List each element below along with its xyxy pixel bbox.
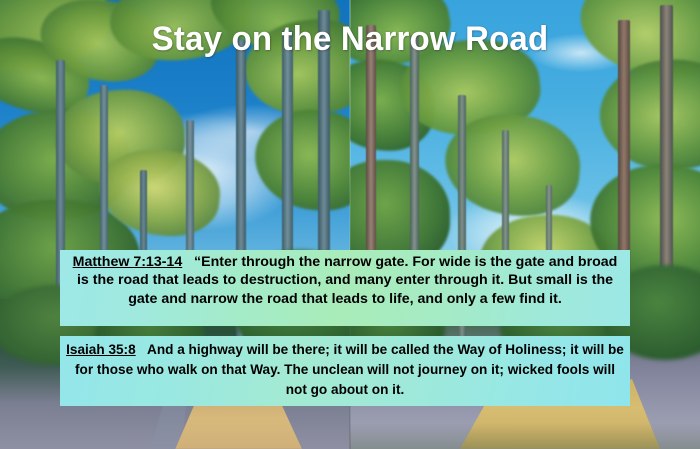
page-title: Stay on the Narrow Road xyxy=(11,20,690,59)
scripture-reference-matthew: Matthew 7:13-14 xyxy=(73,254,183,270)
presentation-slide: Stay on the Narrow Road Matthew 7:13-14 … xyxy=(0,0,700,449)
scripture-text-isaiah: And a highway will be there; it will be … xyxy=(75,342,624,397)
scripture-box-isaiah: Isaiah 35:8 And a highway will be there;… xyxy=(60,336,630,406)
scripture-reference-isaiah: Isaiah 35:8 xyxy=(66,342,136,357)
grass-strip-right xyxy=(350,423,700,449)
scripture-box-matthew: Matthew 7:13-14 “Enter through the narro… xyxy=(60,250,630,326)
